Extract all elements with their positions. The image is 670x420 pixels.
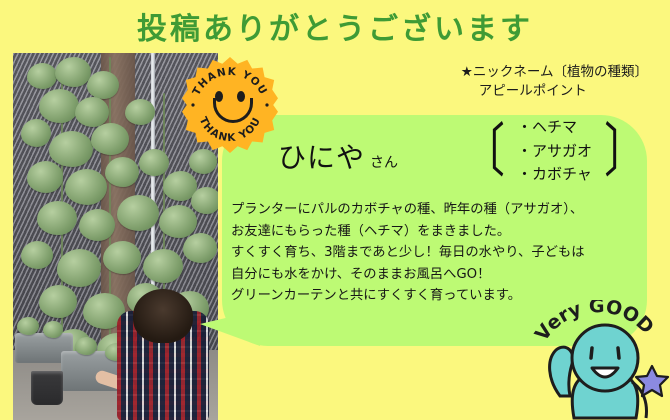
list-item: ・カボチャ bbox=[517, 163, 592, 187]
mascot-raised-arm bbox=[550, 347, 573, 396]
leaf bbox=[143, 249, 183, 283]
leaf bbox=[17, 317, 39, 335]
poster-canvas: 投稿ありがとうございます bbox=[0, 0, 670, 420]
nickname-block: ひにや さん bbox=[278, 136, 398, 176]
bracket-open-icon: 〔 bbox=[463, 123, 505, 179]
body-line: お友達にもらった種（ヘチマ）をまきました。 bbox=[231, 221, 643, 243]
list-item: ・ヘチマ bbox=[517, 116, 592, 140]
sticker-dot bbox=[191, 103, 194, 106]
leaf bbox=[55, 57, 91, 87]
leaf bbox=[91, 123, 129, 155]
plant-list: ・ヘチマ ・アサガオ ・カボチャ bbox=[513, 116, 596, 187]
child-hair bbox=[133, 289, 193, 343]
body-line: 自分にも水をかけ、そのままお風呂へGO！ bbox=[231, 264, 643, 286]
leaf bbox=[57, 249, 101, 287]
leaf bbox=[37, 201, 77, 235]
page-title: 投稿ありがとうございます bbox=[0, 4, 670, 48]
bracket-close-icon: 〕 bbox=[604, 123, 646, 179]
leaf bbox=[75, 97, 109, 127]
leaf bbox=[43, 321, 63, 338]
plant-list-block: 〔 ・ヘチマ ・アサガオ ・カボチャ 〕 bbox=[455, 116, 654, 187]
leaf bbox=[139, 149, 169, 176]
leaf bbox=[39, 285, 77, 318]
mascot-head bbox=[572, 325, 638, 391]
body-line: プランターにパルのカボチャの種、昨年の種（アサガオ）、 bbox=[231, 199, 643, 221]
leaf bbox=[191, 187, 218, 214]
leaf bbox=[27, 161, 63, 193]
leaf bbox=[65, 169, 107, 205]
thank-you-sticker: THANK YOU THANK YOU bbox=[182, 57, 278, 153]
body-text-block: プランターにパルのカボチャの種、昨年の種（アサガオ）、 お友達にもらった種（ヘチ… bbox=[231, 199, 643, 307]
leaf bbox=[125, 99, 155, 125]
mascot-eye-right bbox=[618, 348, 619, 358]
nickname-value: ひにや bbox=[278, 136, 365, 176]
smiley-face-icon bbox=[206, 81, 254, 129]
header-label-line2: アピールポイント bbox=[461, 82, 648, 101]
leaf bbox=[117, 195, 159, 231]
leaf bbox=[21, 119, 51, 147]
leaf bbox=[21, 241, 53, 269]
header-labels: ★ニックネーム〔植物の種類〕 アピールポイント bbox=[461, 63, 648, 101]
nickname-suffix: さん bbox=[370, 152, 398, 172]
leaf bbox=[49, 131, 93, 167]
sticker-dot bbox=[265, 103, 268, 106]
leaf bbox=[87, 71, 119, 99]
very-good-mascot: Very GOOD bbox=[520, 300, 670, 420]
mascot-drawing: Very GOOD bbox=[520, 300, 670, 420]
leaf bbox=[75, 337, 97, 355]
leaf bbox=[79, 209, 115, 241]
header-label-line1: ★ニックネーム〔植物の種類〕 bbox=[461, 63, 648, 82]
leaf bbox=[105, 157, 139, 187]
leaf bbox=[103, 241, 141, 274]
mascot-eye-left bbox=[591, 348, 592, 358]
planter bbox=[31, 371, 63, 405]
list-item: ・アサガオ bbox=[517, 140, 592, 164]
leaf bbox=[39, 89, 79, 123]
leaf bbox=[159, 205, 197, 238]
leaf bbox=[183, 233, 217, 263]
body-line: すくすく育ち、3階まであと少し！毎日の水やり、子どもは bbox=[231, 242, 643, 264]
leaf bbox=[27, 63, 57, 89]
smiley-mouth bbox=[213, 98, 253, 123]
